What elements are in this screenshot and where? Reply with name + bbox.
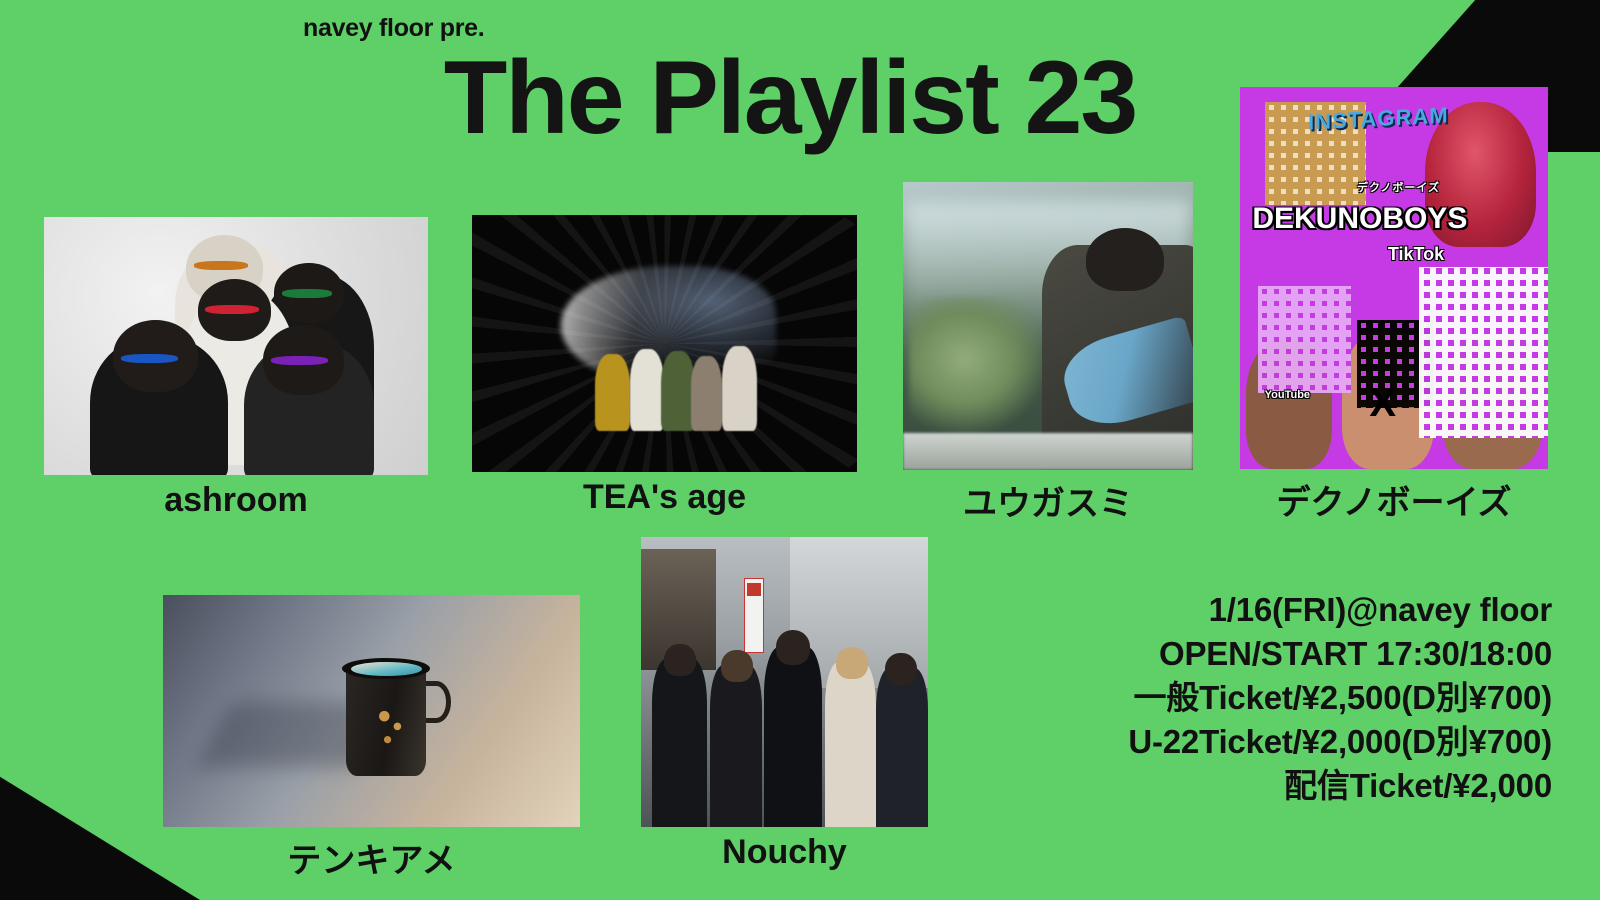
event-details: 1/16(FRI)@navey floor OPEN/START 17:30/1… [1128, 588, 1552, 807]
dekunoboys-photo: INSTAGRAM デクノボーイズ DEKUNOBOYS TikTok YouT… [1240, 87, 1548, 469]
tiktok-qr-code [1419, 267, 1548, 439]
event-open-start: OPEN/START 17:30/18:00 [1128, 632, 1552, 676]
event-date-venue: 1/16(FRI)@navey floor [1128, 588, 1552, 632]
ticket-stream: 配信Ticket/¥2,000 [1128, 764, 1552, 808]
dekunoboys-jp-label: デクノボーイズ [1357, 179, 1440, 195]
youtube-qr-code [1258, 286, 1350, 393]
nouchy-photo [641, 537, 928, 827]
artist-name-label: ashroom [164, 481, 308, 520]
artist-card-tenkiame: テンキアメ [163, 595, 580, 827]
ticket-u22: U-22Ticket/¥2,000(D別¥700) [1128, 720, 1552, 764]
artist-name-label: ユウガスミ [963, 476, 1133, 525]
presenter-text: navey floor pre. [303, 14, 484, 43]
artist-name-label: Nouchy [722, 833, 847, 872]
artist-card-yugasumi: ユウガスミ [903, 182, 1193, 470]
ashroom-photo [44, 217, 428, 475]
tiktok-label: TikTok [1388, 244, 1444, 265]
artist-card-teas-age: TEA's age [472, 215, 857, 472]
artist-card-dekunoboys: INSTAGRAM デクノボーイズ DEKUNOBOYS TikTok YouT… [1240, 87, 1548, 469]
tenkiame-photo [163, 595, 580, 827]
artist-card-ashroom: ashroom [44, 217, 428, 475]
ticket-general: 一般Ticket/¥2,500(D別¥700) [1128, 676, 1552, 720]
youtube-label: YouTube [1265, 389, 1310, 401]
artist-name-label: TEA's age [583, 478, 746, 517]
yugasumi-photo [903, 182, 1193, 470]
x-label: X [1369, 381, 1396, 426]
event-flyer: navey floor pre. The Playlist 23 ashroom [0, 0, 1600, 900]
dekunoboys-en-label: DEKUNOBOYS [1252, 202, 1467, 236]
teas-age-photo [472, 215, 857, 472]
artist-name-label: デクノボーイズ [1277, 475, 1512, 524]
artist-name-label: テンキアメ [287, 833, 455, 882]
artist-card-nouchy: Nouchy [641, 537, 928, 827]
